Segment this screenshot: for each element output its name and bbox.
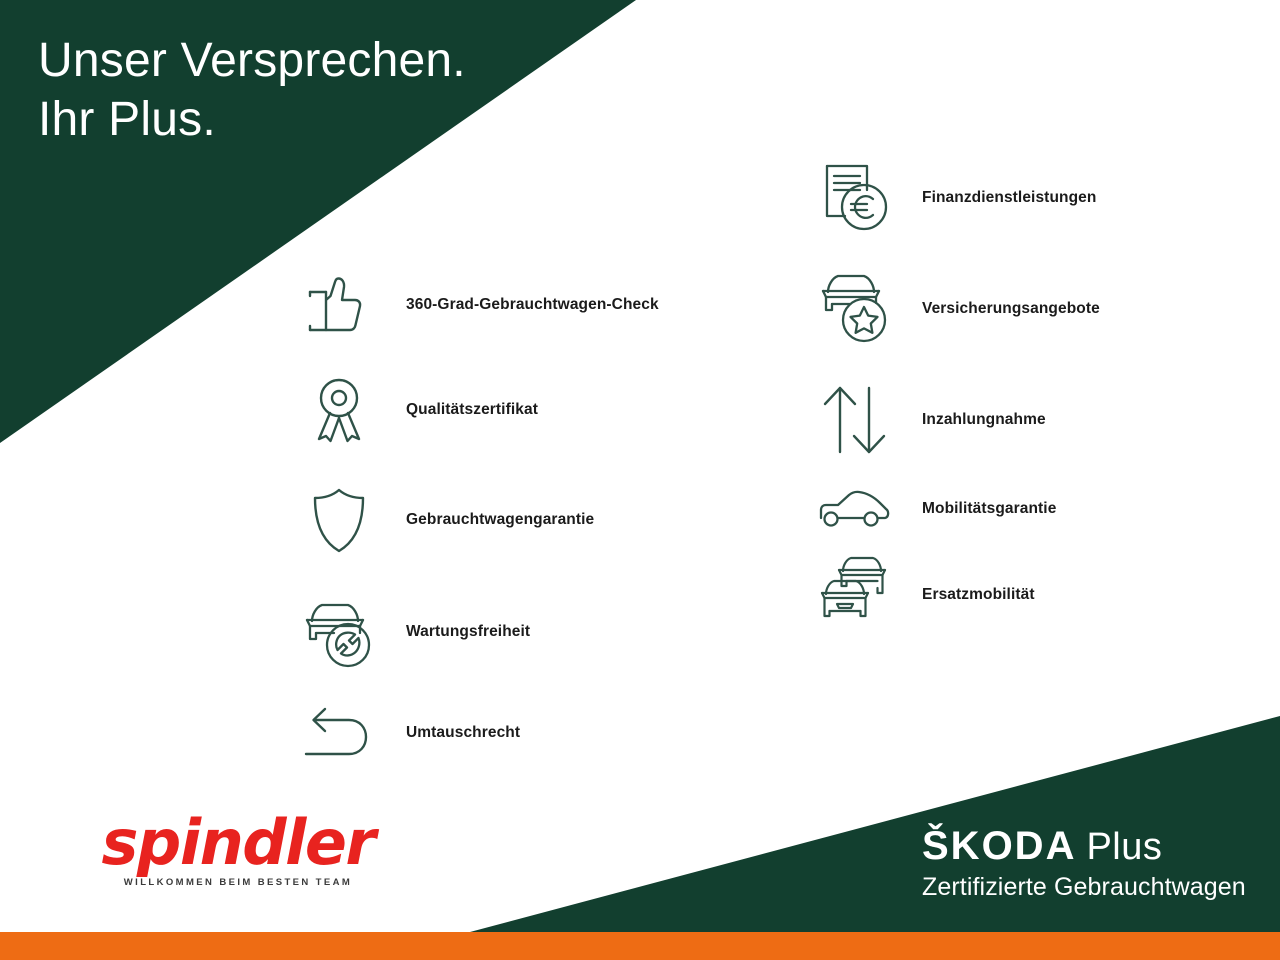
feature-qualitaetszertifikat: Qualitätszertifikat bbox=[296, 367, 538, 453]
brand-mark: ŠKODA bbox=[922, 824, 1076, 868]
car-star-icon bbox=[812, 266, 898, 352]
car-side-icon bbox=[812, 466, 898, 552]
feature-umtauschrecht: Umtauschrecht bbox=[296, 690, 520, 776]
feature-label: Mobilitätsgarantie bbox=[922, 500, 1056, 518]
car-wrench-icon bbox=[296, 589, 382, 675]
document-euro-icon bbox=[812, 155, 898, 241]
feature-mobilitaetsgarantie: Mobilitätsgarantie bbox=[812, 466, 1056, 552]
feature-gebrauchtwagengarantie: Gebrauchtwagengarantie bbox=[296, 477, 594, 563]
feature-label: Finanzdienstleistungen bbox=[922, 189, 1096, 207]
feature-label: Qualitätszertifikat bbox=[406, 401, 538, 419]
dealer-logo: spindler WILLKOMMEN BEIM BESTEN TEAM bbox=[80, 812, 396, 888]
brand-lockup: ŠKODAPlus Zertifizierte Gebrauchtwagen bbox=[922, 826, 1246, 902]
thumbs-up-icon bbox=[296, 262, 382, 348]
brand-subtitle: Zertifizierte Gebrauchtwagen bbox=[922, 873, 1246, 902]
feature-wartungsfreiheit: Wartungsfreiheit bbox=[296, 589, 530, 675]
dealer-logo-tagline: WILLKOMMEN BEIM BESTEN TEAM bbox=[80, 877, 396, 888]
feature-ersatzmobilitaet: Ersatzmobilität bbox=[812, 552, 1035, 638]
award-rosette-icon bbox=[296, 367, 382, 453]
shield-icon bbox=[296, 477, 382, 563]
feature-label: Inzahlungnahme bbox=[922, 411, 1046, 429]
feature-label: Ersatzmobilität bbox=[922, 586, 1035, 604]
feature-label: Gebrauchtwagengarantie bbox=[406, 511, 594, 529]
page-title: Unser Versprechen. Ihr Plus. bbox=[38, 32, 466, 149]
feature-inzahlungnahme: Inzahlungnahme bbox=[812, 377, 1046, 463]
dealer-logo-wordmark: spindler bbox=[80, 812, 396, 874]
feature-label: 360-Grad-Gebrauchtwagen-Check bbox=[406, 296, 659, 314]
feature-label: Versicherungsangebote bbox=[922, 300, 1100, 318]
feature-360-grad-gebrauchtwagen-check: 360-Grad-Gebrauchtwagen-Check bbox=[296, 262, 659, 348]
orange-stripe bbox=[0, 932, 1280, 960]
two-cars-icon bbox=[812, 552, 898, 638]
feature-finanzdienstleistungen: Finanzdienstleistungen bbox=[812, 155, 1096, 241]
promo-banner: Unser Versprechen. Ihr Plus. 360-Grad-Ge… bbox=[0, 0, 1280, 960]
up-down-arrows-icon bbox=[812, 377, 898, 463]
return-arrow-icon bbox=[296, 690, 382, 776]
brand-plus: Plus bbox=[1086, 826, 1162, 868]
feature-label: Umtauschrecht bbox=[406, 724, 520, 742]
feature-label: Wartungsfreiheit bbox=[406, 623, 530, 641]
headline-line-2: Ihr Plus. bbox=[38, 91, 466, 150]
brand-line: ŠKODAPlus bbox=[922, 826, 1246, 866]
headline-line-1: Unser Versprechen. bbox=[38, 34, 466, 87]
feature-versicherungsangebote: Versicherungsangebote bbox=[812, 266, 1100, 352]
